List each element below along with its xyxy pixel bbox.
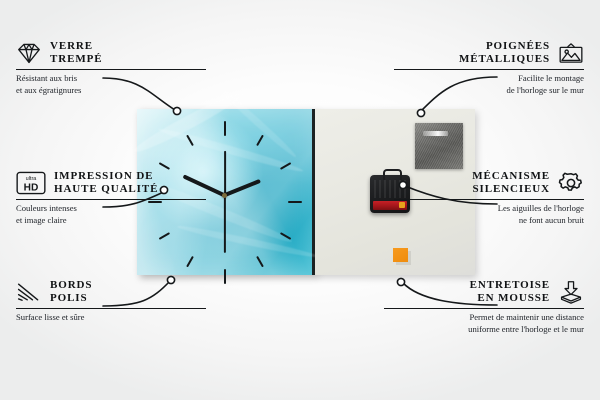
hour-tick <box>186 256 194 267</box>
hour-tick <box>256 256 264 267</box>
metal-highlight <box>423 131 448 136</box>
callout-entretoise-mousse: ENTRETOISE EN MOUSSE Permet de maintenir… <box>384 279 584 336</box>
svg-text:ultra: ultra <box>26 176 38 182</box>
callout-title: MÉCANISME SILENCIEUX <box>472 170 550 196</box>
callout-bords-polis: BORDS POLIS Surface lisse et sûre <box>16 279 206 324</box>
hour-tick <box>186 135 194 146</box>
callout-subtitle: Couleurs intenses et image claire <box>16 200 206 226</box>
callout-title: VERRE TREMPÉ <box>50 40 102 66</box>
second-hand-tail <box>224 151 226 195</box>
picture-frame-hanger-icon <box>558 41 584 65</box>
foam-spacer-arrow-icon <box>558 280 584 304</box>
polished-edges-icon <box>16 280 42 304</box>
callout-subtitle: Résistant aux bris et aux égratignures <box>16 70 206 96</box>
gear-icon <box>558 171 584 195</box>
hour-tick <box>158 232 169 240</box>
hour-tick <box>279 162 290 170</box>
foam-spacer <box>393 248 408 262</box>
second-hand <box>224 195 226 253</box>
hour-tick <box>256 135 264 146</box>
diamond-icon <box>16 41 42 65</box>
infographic-canvas: VERRE TREMPÉ Résistant aux bris et aux é… <box>0 0 600 400</box>
callout-subtitle: Permet de maintenir une distance uniform… <box>384 309 584 335</box>
callout-title: IMPRESSION DE HAUTE QUALITÉ <box>54 170 158 196</box>
callout-poignees-metalliques: POIGNÉES MÉTALLIQUES Facilite le montage… <box>394 40 584 97</box>
callout-impression-hd: ultra HD IMPRESSION DE HAUTE QUALITÉ Cou… <box>16 170 206 227</box>
hour-hand <box>224 179 261 197</box>
ultra-hd-icon: ultra HD <box>16 171 46 195</box>
hour-tick <box>224 121 226 136</box>
callout-title: ENTRETOISE EN MOUSSE <box>470 279 550 305</box>
callout-subtitle: Surface lisse et sûre <box>16 309 206 324</box>
svg-text:HD: HD <box>24 182 39 193</box>
callout-title: POIGNÉES MÉTALLIQUES <box>459 40 550 66</box>
callout-subtitle: Facilite le montage de l'horloge sur le … <box>394 70 584 96</box>
hour-tick <box>279 232 290 240</box>
metal-hanger-plate <box>415 123 463 169</box>
hour-tick <box>224 269 226 284</box>
clock-center-cap <box>222 193 227 198</box>
callout-verre-trempe: VERRE TREMPÉ Résistant aux bris et aux é… <box>16 40 206 97</box>
callout-mecanisme-silencieux: MÉCANISME SILENCIEUX Les aiguilles de l'… <box>394 170 584 227</box>
callout-subtitle: Les aiguilles de l'horloge ne font aucun… <box>394 200 584 226</box>
hour-tick <box>288 201 302 203</box>
callout-title: BORDS POLIS <box>50 279 92 305</box>
